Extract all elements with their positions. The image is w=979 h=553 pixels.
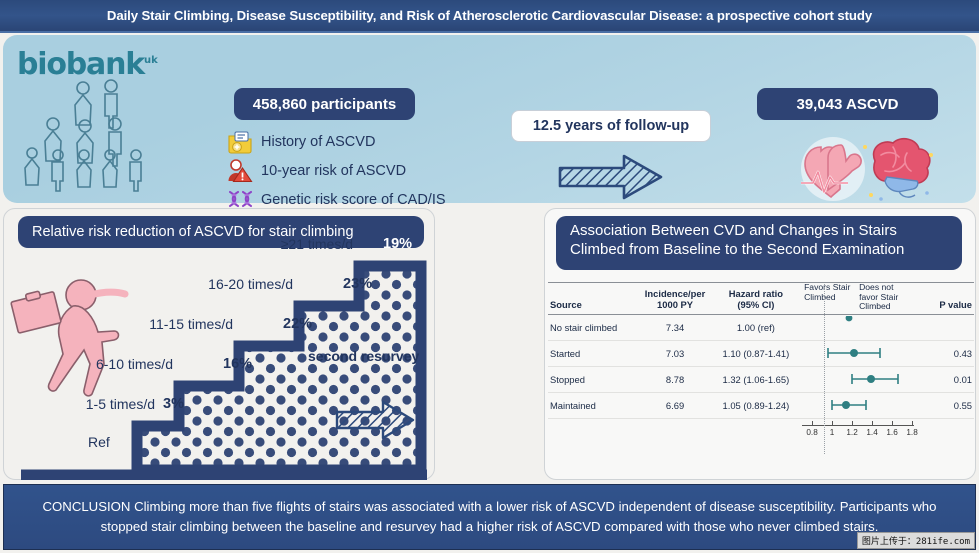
table-row: Stopped 8.78 1.32 (1.06-1.65) xyxy=(548,366,974,392)
stair-climbing-bar-chart: Ref 1-5 times/d 3% 6-10 times/d 16% 11-1… xyxy=(3,248,435,480)
axis-line xyxy=(802,425,914,426)
step-label-ref: Ref xyxy=(88,434,110,450)
col-header-incidence: Incidence/per 1000 PY xyxy=(640,283,709,315)
bullet-label: Genetic risk score of CAD/IS xyxy=(261,192,446,208)
cell-forest-marker xyxy=(802,366,929,392)
cell-incidence: 6.69 xyxy=(640,392,709,418)
cell-pvalue xyxy=(929,314,974,340)
bullet-history-of-ascvd: History of ASCVD xyxy=(227,129,446,155)
person-risk-warning-icon xyxy=(227,159,257,183)
cohort-overview-panel: biobankuk xyxy=(3,35,976,203)
step-value-2: 16% xyxy=(223,356,252,372)
cell-pvalue: 0.01 xyxy=(929,366,974,392)
conclusion-text: CONCLUSION Climbing more than five fligh… xyxy=(30,497,949,537)
step-label-1: 1-5 times/d xyxy=(30,396,155,412)
forest-plot-panel-header: Association Between CVD and Changes in S… xyxy=(556,216,962,270)
cell-hazard-ratio: 1.32 (1.06-1.65) xyxy=(710,366,802,392)
cell-incidence: 7.34 xyxy=(640,314,709,340)
cell-pvalue: 0.55 xyxy=(929,392,974,418)
cell-forest-marker xyxy=(802,392,929,418)
second-resurvey-label: second resurvey xyxy=(308,348,419,364)
col-header-pvalue: P value xyxy=(929,283,974,315)
step-label-3: 11-15 times/d xyxy=(53,316,233,332)
favors-right-label: Does not favor Stair Climbed xyxy=(851,283,913,312)
cell-source: No stair climbed xyxy=(548,314,640,340)
axis-tick-label: 1.2 xyxy=(846,428,857,437)
forest-plot-rows: No stair climbed 7.34 1.00 (ref) Started xyxy=(548,314,974,447)
table-row: No stair climbed 7.34 1.00 (ref) xyxy=(548,314,974,340)
bullet-label: History of ASCVD xyxy=(261,134,375,150)
cell-forest-marker xyxy=(802,314,929,340)
watermark: 图片上传于：281ife.com xyxy=(857,532,975,549)
col-header-source: Source xyxy=(548,283,640,315)
step-value-3: 22% xyxy=(283,316,312,332)
cell-hazard-ratio: 1.10 (0.87-1.41) xyxy=(710,340,802,366)
ascvd-events-badge: 39,043 ASCVD xyxy=(757,88,938,120)
bullet-10-year-risk: 10-year risk of ASCVD xyxy=(227,158,446,184)
bullet-label: 10-year risk of ASCVD xyxy=(261,163,406,179)
heart-brain-illustration xyxy=(781,133,951,205)
axis-tick-label: 1.4 xyxy=(866,428,877,437)
cell-source: Stopped xyxy=(548,366,640,392)
cell-forest-marker xyxy=(802,340,929,366)
step-label-2: 6-10 times/d xyxy=(13,356,173,372)
forest-plot-table: Source Incidence/per 1000 PY Hazard rati… xyxy=(548,282,974,480)
step-value-4: 23% xyxy=(343,276,372,292)
cell-incidence: 8.78 xyxy=(640,366,709,392)
step-label-5: ≥21 times/d xyxy=(173,236,353,252)
cell-source: Started xyxy=(548,340,640,366)
axis-tick-label: 0.8 xyxy=(806,428,817,437)
flow-arrow-icon xyxy=(558,153,663,201)
conclusion-banner: CONCLUSION Climbing more than five fligh… xyxy=(3,484,976,550)
col-header-hazard-ratio: Hazard ratio (95% CI) xyxy=(710,283,802,315)
axis-tick-label: 1.8 xyxy=(906,428,917,437)
infographic-page: Daily Stair Climbing, Disease Susceptibi… xyxy=(0,0,979,553)
followup-pill: 12.5 years of follow-up xyxy=(511,110,711,142)
runner-with-briefcase-icon xyxy=(10,280,125,396)
axis-tick-label: 1.6 xyxy=(886,428,897,437)
biobank-logo-sup: uk xyxy=(144,55,158,66)
forest-plot-axis: 0.8 1 1.2 1.4 1.6 1.8 xyxy=(802,418,929,447)
table-row: Maintained 6.69 1.05 (0.89-1.24) xyxy=(548,392,974,418)
col-header-favors: Favors Stair Climbed Does not favor Stai… xyxy=(802,283,929,315)
table-row: Started 7.03 1.10 (0.87-1.41) xyxy=(548,340,974,366)
cell-source: Maintained xyxy=(548,392,640,418)
medical-folder-icon xyxy=(227,130,257,154)
cell-hazard-ratio: 1.05 (0.89-1.24) xyxy=(710,392,802,418)
favors-left-label: Favors Stair Climbed xyxy=(804,283,851,312)
participants-badge: 458,860 participants xyxy=(234,88,415,120)
exposure-bullet-list: History of ASCVD 10-year risk of ASCVD xyxy=(227,129,446,216)
reference-line-hr-1 xyxy=(824,284,825,454)
axis-tick-label: 1 xyxy=(830,428,835,437)
step-label-4: 16-20 times/d xyxy=(113,276,293,292)
step-value-5: 19% xyxy=(383,236,412,252)
cell-hazard-ratio: 1.00 (ref) xyxy=(710,314,802,340)
population-group-icon xyxy=(17,77,187,197)
cell-incidence: 7.03 xyxy=(640,340,709,366)
page-title-bar: Daily Stair Climbing, Disease Susceptibi… xyxy=(0,0,979,33)
page-title: Daily Stair Climbing, Disease Susceptibi… xyxy=(107,8,872,23)
cell-pvalue: 0.43 xyxy=(929,340,974,366)
step-value-1: 3% xyxy=(163,396,184,412)
